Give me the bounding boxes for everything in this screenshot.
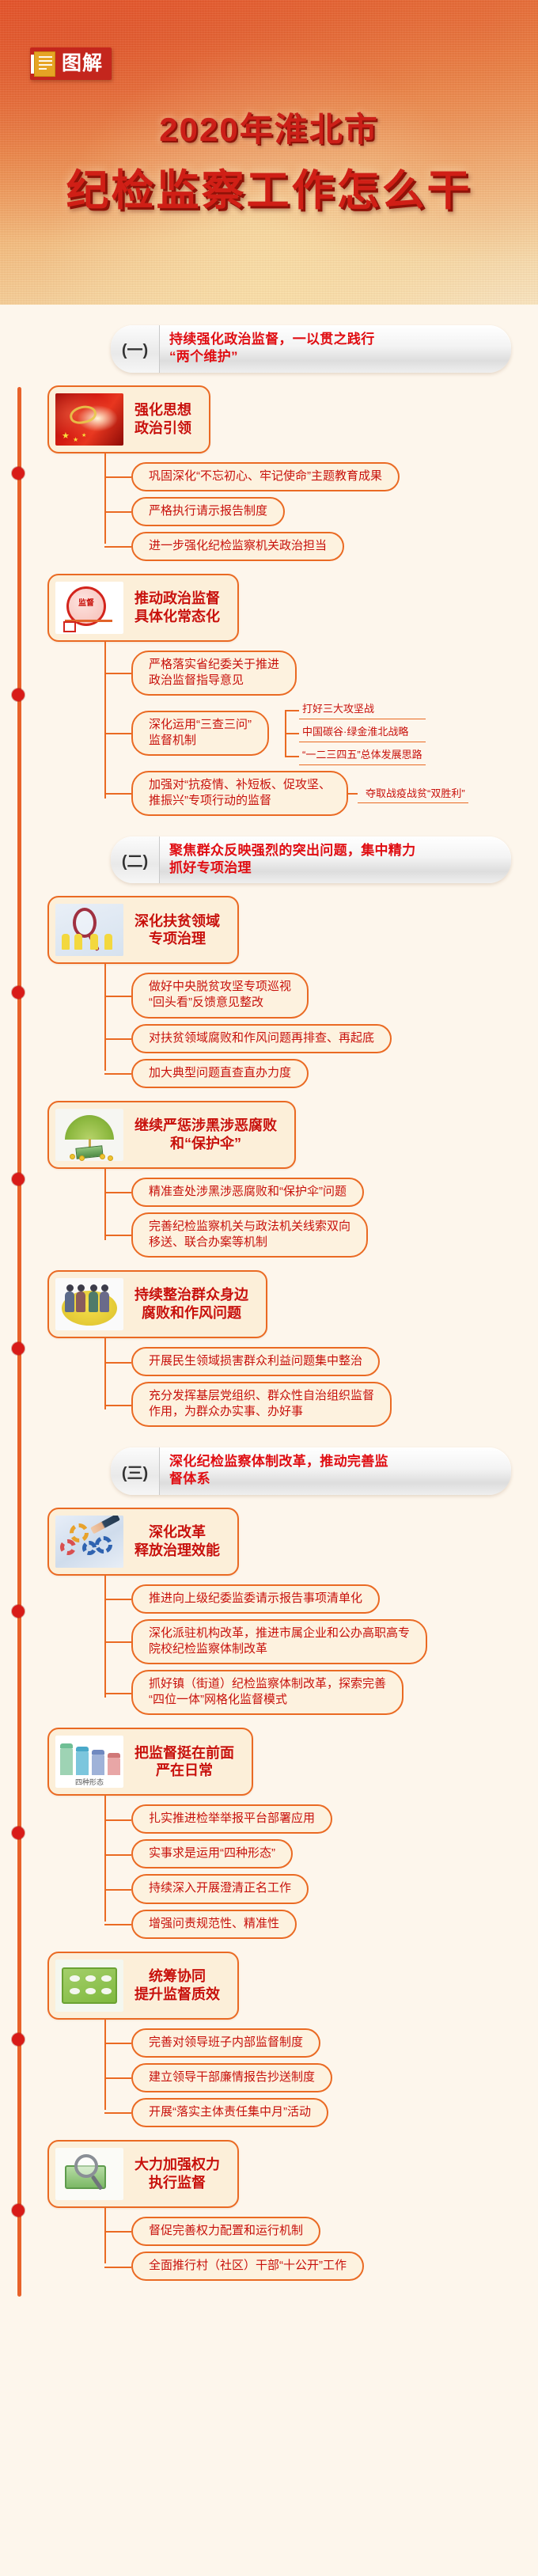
list-item: 精准查处涉黑涉恶腐败和“保护伞”问题 <box>131 1178 538 1207</box>
topic-block: 深化扶贫领域 专项治理做好中央脱贫攻坚专项巡视 “回头看”反馈意见整改对扶贫领域… <box>47 896 538 1087</box>
document-icon <box>34 51 55 77</box>
logo-label: 图解 <box>60 51 104 77</box>
green-grid-image <box>55 1960 123 2012</box>
topic-item-list: 完善对领导班子内部监督制度建立领导干部廉情报告抄送制度开展“落实主体责任集中月”… <box>104 2020 538 2127</box>
list-item: 开展“落实主体责任集中月”活动 <box>131 2098 538 2127</box>
item-pill[interactable]: 深化派驻机构改革，推进市属企业和公办高职高专 院校纪检监察体制改革 <box>131 1619 427 1664</box>
side-note: 夺取战疫战贫“双胜利” <box>358 783 468 803</box>
section-pill: (一)持续强化政治监督，一以贯之践行 “两个维护” <box>111 325 511 373</box>
topic-block: 继续严惩涉黑涉恶腐败 和“保护伞”精准查处涉黑涉恶腐败和“保护伞”问题完善纪检监… <box>47 1101 538 1258</box>
magnifier-art <box>55 904 123 956</box>
masses-art <box>55 1278 123 1330</box>
topic-card[interactable]: 大力加强权力 执行监督 <box>47 2140 239 2208</box>
party-flag-art: ★★★ <box>55 393 123 446</box>
topic-block: ★★★强化思想 政治引领巩固深化“不忘初心、牢记使命”主题教育成果严格执行请示报… <box>47 385 538 561</box>
section-header: (三)深化纪检监察体制改革，推动完善监 督体系 <box>111 1447 511 1495</box>
list-item: 完善对领导班子内部监督制度 <box>131 2028 538 2058</box>
topic-card[interactable]: 深化扶贫领域 专项治理 <box>47 896 239 964</box>
list-item: 加大典型问题直查直办力度 <box>131 1059 538 1088</box>
topic-block: 大力加强权力 执行监督督促完善权力配置和运行机制全面推行村（社区）干部“十公开”… <box>47 2140 538 2281</box>
item-pill[interactable]: 完善纪检监察机关与政法机关线索双向 移送、联合办案等机制 <box>131 1212 368 1258</box>
item-pill[interactable]: 扎实推进检举举报平台部署应用 <box>131 1804 332 1834</box>
topic-block: 持续整治群众身边 腐败和作风问题开展民生领域损害群众利益问题集中整治充分发挥基层… <box>47 1270 538 1427</box>
timeline-dot <box>12 1827 25 1839</box>
tujie-logo-badge: 图解 <box>30 47 112 80</box>
item-pill[interactable]: 持续深入开展澄清正名工作 <box>131 1874 309 1903</box>
party-flag-image: ★★★ <box>55 393 123 446</box>
document-lines <box>39 56 52 72</box>
page-title-line1: 2020年淮北市 <box>0 103 538 151</box>
topic-item-list: 巩固深化“不忘初心、牢记使命”主题教育成果严格执行请示报告制度进一步强化纪检监察… <box>104 453 538 561</box>
topic-item-list: 精准查处涉黑涉恶腐败和“保护伞”问题完善纪检监察机关与政法机关线索双向 移送、联… <box>104 1169 538 1258</box>
item-pill[interactable]: 进一步强化纪检监察机关政治担当 <box>131 532 344 561</box>
topic-item-list: 推进向上级纪委监委请示报告事项清单化深化派驻机构改革，推进市属企业和公办高职高专… <box>104 1576 538 1715</box>
masses-group-image <box>55 1278 123 1330</box>
topic-block: 深化改革 释放治理效能推进向上级纪委监委请示报告事项清单化深化派驻机构改革，推进… <box>47 1508 538 1715</box>
list-item: 做好中央脱贫攻坚专项巡视 “回头看”反馈意见整改 <box>131 973 538 1018</box>
supervision-seal-art: 监督 <box>55 582 123 634</box>
magnifier-poverty-image <box>55 904 123 956</box>
item-pill[interactable]: 全面推行村（社区）干部“十公开”工作 <box>131 2252 364 2281</box>
item-pill[interactable]: 做好中央脱贫攻坚专项巡视 “回头看”反馈意见整改 <box>131 973 309 1018</box>
section-number: (三) <box>111 1447 160 1495</box>
item-pill[interactable]: 深化运用“三查三问” 监督机制 <box>131 711 269 756</box>
timeline-dot <box>12 2033 25 2046</box>
item-pill[interactable]: 加大典型问题直查直办力度 <box>131 1059 309 1088</box>
section-header: (一)持续强化政治监督，一以贯之践行 “两个维护” <box>111 325 511 373</box>
topic-card[interactable]: 监督推动政治监督 具体化常态化 <box>47 574 239 642</box>
timeline-dot <box>12 689 25 701</box>
topic-item-list: 扎实推进检举举报平台部署应用实事求是运用“四种形态”持续深入开展澄清正名工作增强… <box>104 1796 538 1938</box>
item-pill[interactable]: 实事求是运用“四种形态” <box>131 1839 293 1868</box>
section-2: (二)聚焦群众反映强烈的突出问题，集中精力 抓好专项治理深化扶贫领域 专项治理做… <box>0 837 538 1427</box>
topic-card[interactable]: 四种形态把监督挺在前面 严在日常 <box>47 1728 253 1796</box>
topic-card[interactable]: 统筹协同 提升监督质效 <box>47 1952 239 2020</box>
section-title: 聚焦群众反映强烈的突出问题，集中精力 抓好专项治理 <box>160 837 511 884</box>
item-pill[interactable]: 增强问责规范性、精准性 <box>131 1910 297 1939</box>
topic-block: 四种形态把监督挺在前面 严在日常扎实推进检举举报平台部署应用实事求是运用“四种形… <box>47 1728 538 1938</box>
list-item: 完善纪检监察机关与政法机关线索双向 移送、联合办案等机制 <box>131 1212 538 1258</box>
section-header: (二)聚焦群众反映强烈的突出问题，集中精力 抓好专项治理 <box>111 837 511 884</box>
section-3: (三)深化纪检监察体制改革，推动完善监 督体系深化改革 释放治理效能推进向上级纪… <box>0 1447 538 2281</box>
topic-card[interactable]: 深化改革 释放治理效能 <box>47 1508 239 1576</box>
item-pill[interactable]: 精准查处涉黑涉恶腐败和“保护伞”问题 <box>131 1178 364 1207</box>
topic-label: 深化扶贫领域 专项治理 <box>134 912 220 948</box>
topic-label: 大力加强权力 执行监督 <box>134 2156 220 2191</box>
exclamation-bar <box>31 55 34 74</box>
supervision-seal-image: 监督 <box>55 582 123 634</box>
list-item: 持续深入开展澄清正名工作 <box>131 1874 538 1903</box>
item-pill[interactable]: 抓好镇（街道）纪检监察体制改革，探索完善 “四位一体”网格化监督模式 <box>131 1670 403 1715</box>
topic-item-list: 严格落实省纪委关于推进 政治监督指导意见深化运用“三查三问” 监督机制打好三大攻… <box>104 642 538 816</box>
item-pill[interactable]: 完善对领导班子内部监督制度 <box>131 2028 320 2058</box>
section-title: 持续强化政治监督，一以贯之践行 “两个维护” <box>160 325 511 373</box>
gears-art <box>55 1516 123 1568</box>
grid-art <box>55 1960 123 2012</box>
section-number: (二) <box>111 837 160 884</box>
sub-branch-item: 打好三大攻坚战 <box>299 701 426 719</box>
sub-branch-item: “一二三四五”总体发展思路 <box>299 747 426 765</box>
section-1: (一)持续强化政治监督，一以贯之践行 “两个维护”★★★强化思想 政治引领巩固深… <box>0 325 538 816</box>
list-item: 开展民生领域损害群众利益问题集中整治 <box>131 1347 538 1376</box>
money-magnifier-image <box>55 2148 123 2200</box>
item-pill[interactable]: 充分发挥基层党组织、群众性自治组织监督 作用，为群众办实事、办好事 <box>131 1382 392 1427</box>
topic-label: 推动政治监督 具体化常态化 <box>134 590 220 625</box>
topic-item-list: 督促完善权力配置和运行机制全面推行村（社区）干部“十公开”工作 <box>104 2208 538 2281</box>
list-item: 深化派驻机构改革，推进市属企业和公办高职高专 院校纪检监察体制改革 <box>131 1619 538 1664</box>
section-number: (一) <box>111 325 160 373</box>
topic-card[interactable]: 持续整治群众身边 腐败和作风问题 <box>47 1270 267 1338</box>
power-supervision-art <box>55 2148 123 2200</box>
timeline-dot <box>12 2204 25 2217</box>
timeline-dot <box>12 986 25 999</box>
list-item: 增强问责规范性、精准性 <box>131 1910 538 1939</box>
topic-label: 统筹协同 提升监督质效 <box>134 1967 220 2003</box>
page-title-line2: 纪检监察工作怎么干 <box>0 155 538 218</box>
four-forms-image: 四种形态 <box>55 1736 123 1788</box>
topic-label: 持续整治群众身边 腐败和作风问题 <box>134 1286 248 1322</box>
section-pill: (三)深化纪检监察体制改革，推动完善监 督体系 <box>111 1447 511 1495</box>
gears-pen-image <box>55 1516 123 1568</box>
list-item: 加强对“抗疫情、补短板、促攻坚、 推振兴”专项行动的监督夺取战疫战贫“双胜利” <box>131 771 538 816</box>
item-pill[interactable]: 加强对“抗疫情、补短板、促攻坚、 推振兴”专项行动的监督 <box>131 771 348 816</box>
item-pill[interactable]: 督促完善权力配置和运行机制 <box>131 2217 320 2246</box>
sub-branch-list: 打好三大攻坚战中国碳谷·绿金淮北战略“一二三四五”总体发展思路 <box>277 701 426 765</box>
item-pill[interactable]: 严格落实省纪委关于推进 政治监督指导意见 <box>131 651 297 696</box>
list-item: 充分发挥基层党组织、群众性自治组织监督 作用，为群众办实事、办好事 <box>131 1382 538 1427</box>
item-pill[interactable]: 开展民生领域损害群众利益问题集中整治 <box>131 1347 380 1376</box>
list-item: 建立领导干部廉情报告抄送制度 <box>131 2063 538 2092</box>
list-item: 深化运用“三查三问” 监督机制打好三大攻坚战中国碳谷·绿金淮北战略“一二三四五”… <box>131 701 538 765</box>
infographic-page: 图解 2020年淮北市 纪检监察工作怎么干 (一)持续强化政治监督，一以贯之践行… <box>0 0 538 2576</box>
item-pill[interactable]: 开展“落实主体责任集中月”活动 <box>131 2098 328 2127</box>
item-pill[interactable]: 严格执行请示报告制度 <box>131 497 285 526</box>
list-item: 推进向上级纪委监委请示报告事项清单化 <box>131 1584 538 1614</box>
topic-item-list: 做好中央脱贫攻坚专项巡视 “回头看”反馈意见整改对扶贫领域腐败和作风问题再排查、… <box>104 964 538 1087</box>
item-pill[interactable]: 建立领导干部廉情报告抄送制度 <box>131 2063 332 2092</box>
umbrella-art <box>55 1109 123 1161</box>
list-item: 督促完善权力配置和运行机制 <box>131 2217 538 2246</box>
list-item: 严格执行请示报告制度 <box>131 497 538 526</box>
list-item: 对扶贫领域腐败和作风问题再排查、再起底 <box>131 1024 538 1053</box>
list-item: 抓好镇（街道）纪检监察体制改革，探索完善 “四位一体”网格化监督模式 <box>131 1670 538 1715</box>
topic-item-list: 开展民生领域损害群众利益问题集中整治充分发挥基层党组织、群众性自治组织监督 作用… <box>104 1338 538 1427</box>
section-title: 深化纪检监察体制改革，推动完善监 督体系 <box>160 1447 511 1495</box>
sub-branch-item: 中国碳谷·绿金淮北战略 <box>299 724 426 742</box>
item-pill[interactable]: 推进向上级纪委监委请示报告事项清单化 <box>131 1584 380 1614</box>
topic-block: 统筹协同 提升监督质效完善对领导班子内部监督制度建立领导干部廉情报告抄送制度开展… <box>47 1952 538 2127</box>
topic-card[interactable]: ★★★强化思想 政治引领 <box>47 385 210 453</box>
list-item: 严格落实省纪委关于推进 政治监督指导意见 <box>131 651 538 696</box>
list-item: 全面推行村（社区）干部“十公开”工作 <box>131 2252 538 2281</box>
list-item: 扎实推进检举举报平台部署应用 <box>131 1804 538 1834</box>
content-body: (一)持续强化政治监督，一以贯之践行 “两个维护”★★★强化思想 政治引领巩固深… <box>0 325 538 2297</box>
topic-card[interactable]: 继续严惩涉黑涉恶腐败 和“保护伞” <box>47 1101 296 1169</box>
timeline-dot <box>12 1173 25 1186</box>
section-pill: (二)聚焦群众反映强烈的突出问题，集中精力 抓好专项治理 <box>111 837 511 884</box>
umbrella-money-image <box>55 1109 123 1161</box>
list-item: 实事求是运用“四种形态” <box>131 1839 538 1868</box>
timeline-dot <box>12 1605 25 1618</box>
list-item: 进一步强化纪检监察机关政治担当 <box>131 532 538 561</box>
four-forms-art: 四种形态 <box>55 1736 123 1788</box>
topic-block: 监督推动政治监督 具体化常态化严格落实省纪委关于推进 政治监督指导意见深化运用“… <box>47 574 538 816</box>
topic-label: 把监督挺在前面 严在日常 <box>134 1744 234 1780</box>
topic-label: 深化改革 释放治理效能 <box>134 1523 220 1559</box>
header-banner: 图解 2020年淮北市 纪检监察工作怎么干 <box>0 0 538 305</box>
topic-label: 强化思想 政治引领 <box>134 401 191 437</box>
timeline-dot <box>12 467 25 480</box>
topic-label: 继续严惩涉黑涉恶腐败 和“保护伞” <box>134 1117 277 1152</box>
list-item: 巩固深化“不忘初心、牢记使命”主题教育成果 <box>131 462 538 491</box>
item-pill[interactable]: 对扶贫领域腐败和作风问题再排查、再起底 <box>131 1024 392 1053</box>
timeline-dot <box>12 1342 25 1355</box>
item-pill[interactable]: 巩固深化“不忘初心、牢记使命”主题教育成果 <box>131 462 400 491</box>
